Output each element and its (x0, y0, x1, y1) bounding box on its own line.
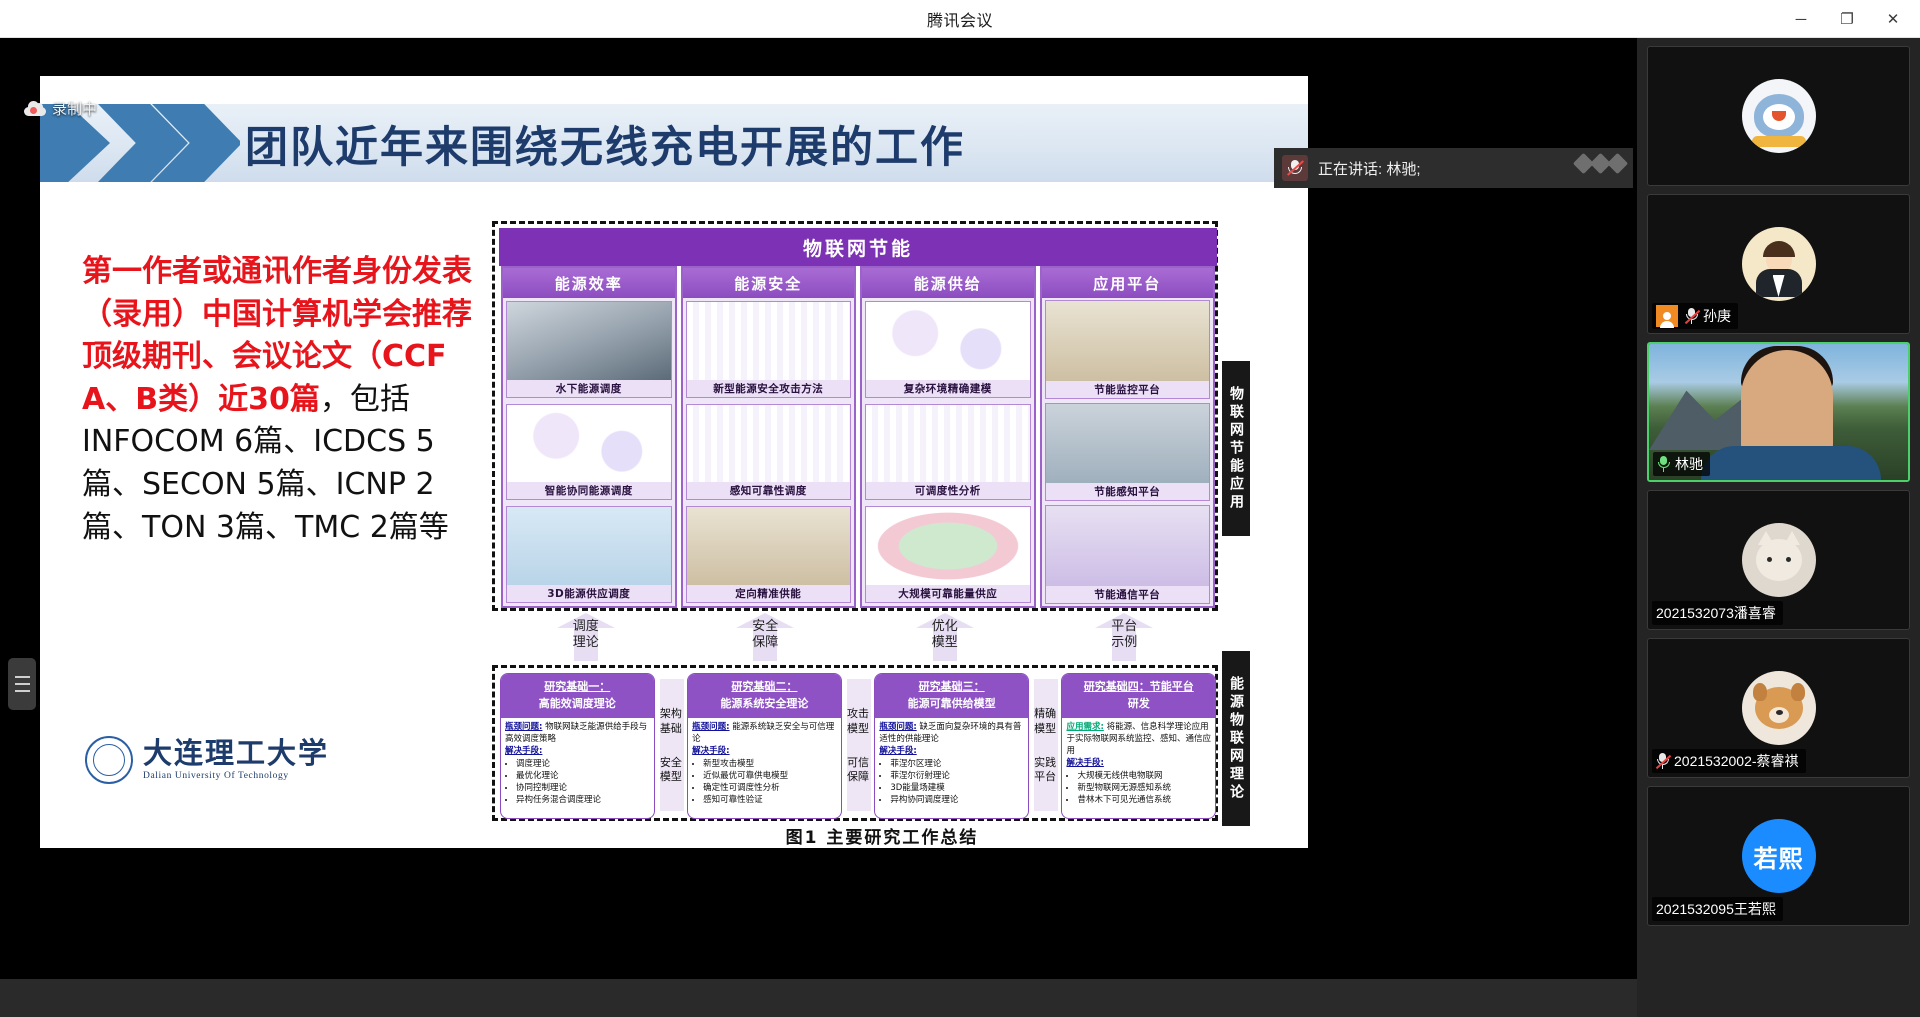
card-header: 研究基础二： 能源系统安全理论 (688, 674, 841, 718)
diagram-cell: 定向精准供能 (686, 506, 852, 603)
diagram-arrows: 调度理论 安全保障 (496, 613, 1214, 665)
card-header: 研究基础三： 能源可靠供给模型 (875, 674, 1028, 718)
mic-muted-icon (1685, 308, 1698, 325)
annotation-toolbar-handle[interactable] (8, 658, 36, 710)
slide-left-text: 第一作者或通讯作者身份发表（录用）中国计算机学会推荐顶级期刊、会议论文（CCF … (82, 251, 474, 549)
diagram-columns: 能源效率 水下能源调度 智能协同能源调度 3D能源供 (499, 266, 1217, 608)
research-foundation-card: 研究基础三： 能源可靠供给模型 瓶颈问题: 缺乏面向复杂环境的具有普适性的供能理… (874, 673, 1029, 819)
cell-caption: 节能感知平台 (1046, 483, 1210, 500)
figure-caption: 图1 主要研究工作总结 (672, 823, 1092, 848)
participant-label: 孙庚 (1652, 303, 1738, 329)
avatar (1742, 79, 1816, 153)
avatar (1742, 227, 1816, 301)
card-header: 研究基础四：节能平台 研发 (1062, 674, 1215, 718)
arrow-group: 安全保障 (676, 613, 856, 665)
diagram-cell: 智能协同能源调度 (506, 404, 672, 501)
thumbnail-image (866, 507, 1030, 585)
arrow-group: 调度理论 (496, 613, 676, 665)
decor-diamonds-icon (1576, 156, 1625, 171)
diagram-banner: 物联网节能 (499, 228, 1217, 266)
arrow-label: 优化模型 (916, 619, 974, 652)
diagram-column: 能源效率 水下能源调度 智能协同能源调度 3D能源供 (501, 266, 677, 608)
host-badge-icon (1656, 305, 1678, 327)
side-label-theory: 能源物联网理论 (1222, 651, 1250, 826)
solution-item: 异构任务混合调度理论 (516, 794, 650, 806)
cell-caption: 大规模可靠能量供应 (866, 585, 1030, 602)
seal-icon (85, 736, 133, 784)
diagram-cell: 水下能源调度 (506, 301, 672, 398)
solution-item: 调度理论 (516, 758, 650, 770)
participant-label: 林驰 (1653, 452, 1710, 476)
research-foundation-card: 研究基础四：节能平台 研发 应用需求: 将能源、信息科学理论应用于实际物联网系统… (1061, 673, 1216, 819)
cell-caption: 3D能源供应调度 (507, 585, 671, 602)
arrow-up-icon: 优化模型 (916, 613, 974, 661)
cell-caption: 节能监控平台 (1046, 381, 1210, 398)
cell-caption: 感知可靠性调度 (687, 482, 851, 499)
maximize-button[interactable]: ❐ (1824, 0, 1870, 38)
avatar (1742, 671, 1816, 745)
diagram-cell: 可调度性分析 (865, 404, 1031, 501)
side-label-application: 物联网节能应用 (1222, 361, 1250, 536)
column-header: 能源供给 (862, 268, 1034, 298)
cell-caption: 智能协同能源调度 (507, 482, 671, 499)
participant-tile-active-speaker[interactable]: 林驰 (1647, 342, 1910, 482)
diagram-upper-dashed-frame: 物联网节能 能源效率 水下能源调度 智能协同能源调度 (492, 221, 1218, 611)
active-speaker-banner: 正在讲话: 林驰; (1274, 148, 1633, 188)
card-body: 应用需求: 将能源、信息科学理论应用于实际物联网系统监控、感知、通信应用 解决手… (1062, 718, 1215, 818)
participant-label: 2021532002-蔡睿祺 (1652, 749, 1806, 773)
card-header: 研究基础一： 高能效调度理论 (501, 674, 654, 718)
cell-caption: 复杂环境精确建模 (866, 380, 1030, 397)
solution-item: 新型攻击模型 (703, 758, 837, 770)
diagram-lower-dashed-frame: 研究基础一： 高能效调度理论 瓶颈问题: 物联网缺乏能源供给手段与高效调度策略 … (492, 665, 1218, 821)
mic-muted-icon (1656, 753, 1669, 770)
separator-label: 精确 模型 实践 平台 (1031, 673, 1060, 819)
solution-item: 感知可靠性验证 (703, 794, 837, 806)
solution-item: 近似最优可靠供电模型 (703, 770, 837, 782)
thumbnail-image (1046, 404, 1210, 484)
participant-name: 林驰 (1675, 454, 1703, 474)
app-title: 腾讯会议 (0, 7, 1920, 31)
separator-label: 攻击 模型 可信 保障 (844, 673, 873, 819)
thumbnail-image (866, 405, 1030, 483)
cloud-record-icon (24, 102, 46, 116)
solution-item: 菲涅尔区理论 (890, 758, 1024, 770)
research-diagram: 物联网节能 能源效率 水下能源调度 智能协同能源调度 (492, 221, 1252, 821)
diagram-cell: 大规模可靠能量供应 (865, 506, 1031, 603)
diagram-cell: 节能通信平台 (1045, 505, 1211, 604)
solution-item: 大规模无线供电物联网 (1077, 770, 1211, 782)
solution-item: 异构协同调度理论 (890, 794, 1024, 806)
title-bar: 腾讯会议 ─ ❐ ✕ (0, 0, 1920, 38)
thumbnail-image (687, 302, 851, 380)
avatar-initials: 若熙 (1742, 819, 1816, 893)
card-body: 瓶颈问题: 物联网缺乏能源供给手段与高效调度策略 解决手段: 调度理论 最优化理… (501, 718, 654, 818)
solution-item: 菲涅尔衍射理论 (890, 770, 1024, 782)
diagram-column: 应用平台 节能监控平台 节能感知平台 节能通信平台 (1040, 266, 1216, 608)
arrow-up-icon: 安全保障 (736, 613, 794, 661)
university-logo: 大连理工大学 Dalian University Of Technology (85, 736, 329, 784)
minimize-button[interactable]: ─ (1778, 0, 1824, 38)
diagram-cell: 3D能源供应调度 (506, 506, 672, 603)
cell-caption: 新型能源安全攻击方法 (687, 380, 851, 397)
participant-label: 2021532095王若熙 (1652, 897, 1783, 921)
diagram-column: 能源安全 新型能源安全攻击方法 感知可靠性调度 定向 (681, 266, 857, 608)
solution-item: 3D能量场建模 (890, 782, 1024, 794)
tencent-meeting-window: 腾讯会议 ─ ❐ ✕ 团队近年来围绕无线充电开展的工作 第一作者或通讯作者身份发… (0, 0, 1920, 1017)
thumbnail-image (866, 302, 1030, 380)
thumbnail-image (1046, 301, 1210, 381)
avatar (1742, 523, 1816, 597)
participant-name: 孙庚 (1703, 306, 1731, 326)
participant-label: 2021532073潘喜睿 (1652, 601, 1783, 625)
cell-caption: 可调度性分析 (866, 482, 1030, 499)
slide-text-red: 第一作者或通讯作者身份发表（录用）中国计算机学会推荐顶级期刊、会议论文（CCF … (82, 254, 472, 417)
recording-indicator: 录制中 (24, 98, 97, 119)
slide-header-band: 团队近年来围绕无线充电开展的工作 (40, 104, 1308, 182)
solution-item: 新型物联网无源感知系统 (1077, 782, 1211, 794)
mic-on-icon (1657, 456, 1670, 473)
thumbnail-image (507, 507, 671, 585)
participant-tile[interactable]: 若熙 2021532095王若熙 (1647, 786, 1910, 926)
cell-caption: 定向精准供能 (687, 585, 851, 602)
participant-tile[interactable] (1647, 46, 1910, 186)
arrow-up-icon: 平台示例 (1095, 613, 1153, 661)
diagram-column: 能源供给 复杂环境精确建模 可调度性分析 大规模可靠 (860, 266, 1036, 608)
solution-item: 昔林木下可见光通信系统 (1077, 794, 1211, 806)
column-header: 应用平台 (1042, 268, 1214, 298)
participant-tile[interactable]: 孙庚 (1647, 194, 1910, 334)
participant-panel: 孙庚 林驰 2021532073潘喜睿 (1637, 38, 1920, 1017)
presentation-slide: 团队近年来围绕无线充电开展的工作 第一作者或通讯作者身份发表（录用）中国计算机学… (40, 76, 1308, 848)
cell-caption: 节能通信平台 (1046, 586, 1210, 603)
arrow-group: 优化模型 (855, 613, 1035, 665)
recording-label: 录制中 (52, 98, 97, 119)
solution-item: 确定性可调度性分析 (703, 782, 837, 794)
logo-en-text: Dalian University Of Technology (143, 771, 329, 781)
slide-title: 团队近年来围绕无线充电开展的工作 (245, 112, 965, 176)
solution-item: 最优化理论 (516, 770, 650, 782)
participant-name: 2021532073潘喜睿 (1656, 603, 1776, 623)
thumbnail-image (687, 405, 851, 483)
column-header: 能源效率 (503, 268, 675, 298)
diagram-cell: 节能监控平台 (1045, 300, 1211, 399)
solution-item: 协同控制理论 (516, 782, 650, 794)
research-foundation-card: 研究基础一： 高能效调度理论 瓶颈问题: 物联网缺乏能源供给手段与高效调度策略 … (500, 673, 655, 819)
diagram-cell: 感知可靠性调度 (686, 404, 852, 501)
thumbnail-image (507, 405, 671, 483)
thumbnail-image (687, 507, 851, 585)
card-body: 瓶颈问题: 缺乏面向复杂环境的具有普适性的供能理论 解决手段: 菲涅尔区理论 菲… (875, 718, 1028, 818)
research-foundation-row: 研究基础一： 高能效调度理论 瓶颈问题: 物联网缺乏能源供给手段与高效调度策略 … (500, 673, 1216, 819)
arrow-group: 平台示例 (1035, 613, 1215, 665)
active-speaker-text: 正在讲话: 林驰; (1318, 158, 1421, 179)
muted-mic-icon (1282, 155, 1308, 181)
close-button[interactable]: ✕ (1870, 0, 1916, 38)
window-controls: ─ ❐ ✕ (1778, 0, 1916, 38)
diagram-cell: 复杂环境精确建模 (865, 301, 1031, 398)
arrow-label: 调度理论 (557, 619, 615, 652)
column-header: 能源安全 (683, 268, 855, 298)
arrow-label: 平台示例 (1095, 619, 1153, 652)
diagram-banner-label: 物联网节能 (803, 234, 913, 261)
participant-tile[interactable]: 2021532002-蔡睿祺 (1647, 638, 1910, 778)
participant-name: 2021532002-蔡睿祺 (1674, 751, 1799, 771)
diagram-cell: 节能感知平台 (1045, 403, 1211, 502)
research-foundation-card: 研究基础二： 能源系统安全理论 瓶颈问题: 能源系统缺乏安全与可信理论 解决手段… (687, 673, 842, 819)
arrow-up-icon: 调度理论 (557, 613, 615, 661)
card-body: 瓶颈问题: 能源系统缺乏安全与可信理论 解决手段: 新型攻击模型 近似最优可靠供… (688, 718, 841, 818)
cell-caption: 水下能源调度 (507, 380, 671, 397)
participant-name: 2021532095王若熙 (1656, 899, 1776, 919)
separator-label: 架构 基础 安全 模型 (657, 673, 686, 819)
arrow-label: 安全保障 (736, 619, 794, 652)
diagram-cell: 新型能源安全攻击方法 (686, 301, 852, 398)
logo-cn-text: 大连理工大学 (143, 739, 329, 768)
participant-tile[interactable]: 2021532073潘喜睿 (1647, 490, 1910, 630)
thumbnail-image (1046, 506, 1210, 586)
thumbnail-image (507, 302, 671, 380)
